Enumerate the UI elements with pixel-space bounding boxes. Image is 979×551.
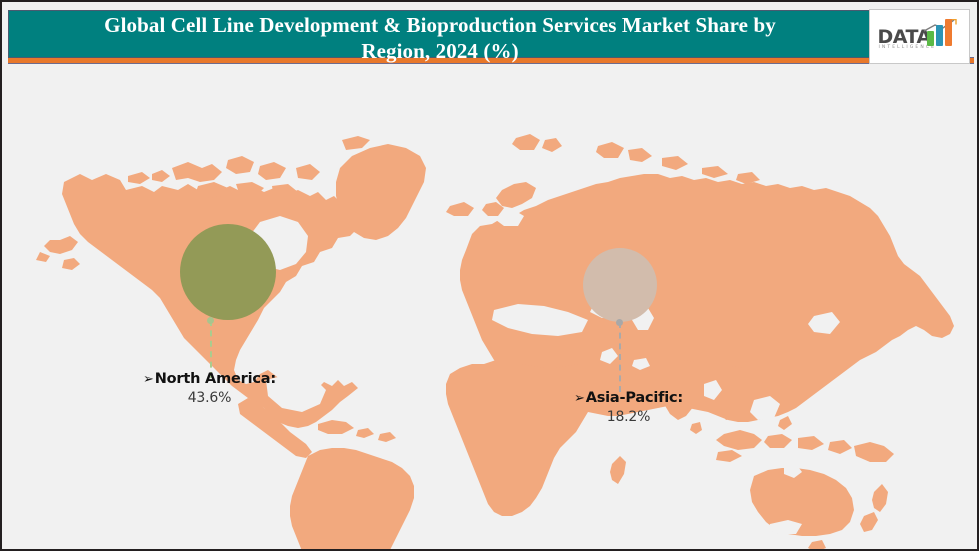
bubble-asia-pacific[interactable]	[583, 248, 657, 322]
callout-asia-pacific-value: 18.2%	[574, 409, 683, 425]
leader-line-north-america	[210, 320, 212, 378]
bullet-arrow-icon: ➢	[143, 372, 154, 387]
logo-inner: DATA INTELLIGENCE	[875, 17, 965, 57]
anchor-north-america	[207, 317, 214, 324]
brand-logo: DATA INTELLIGENCE	[869, 9, 970, 64]
world-landmass	[36, 134, 954, 549]
leader-line-asia-pacific	[619, 322, 621, 392]
callout-asia-pacific-label: Asia-Pacific:	[586, 390, 683, 406]
header-accent-strip	[8, 57, 974, 64]
callout-north-america-value: 43.6%	[143, 390, 276, 406]
header-band	[8, 10, 872, 58]
callout-asia-pacific-title: ➢Asia-Pacific:	[574, 390, 683, 406]
callout-north-america-label: North America:	[155, 371, 276, 387]
callout-north-america-title: ➢North America:	[143, 371, 276, 387]
market-share-figure: Global Cell Line Development & Bioproduc…	[0, 0, 979, 551]
logo-bar-green	[927, 31, 934, 46]
anchor-asia-pacific	[616, 319, 623, 326]
world-map-container	[2, 64, 977, 549]
callout-asia-pacific: ➢Asia-Pacific: 18.2%	[574, 390, 683, 425]
world-map-svg	[2, 64, 977, 549]
callout-north-america: ➢North America: 43.6%	[143, 371, 276, 406]
logo-bar-blue	[936, 25, 943, 46]
bubble-north-america[interactable]	[180, 224, 276, 320]
bullet-arrow-icon: ➢	[574, 391, 585, 406]
logo-bar-orange	[945, 19, 952, 46]
